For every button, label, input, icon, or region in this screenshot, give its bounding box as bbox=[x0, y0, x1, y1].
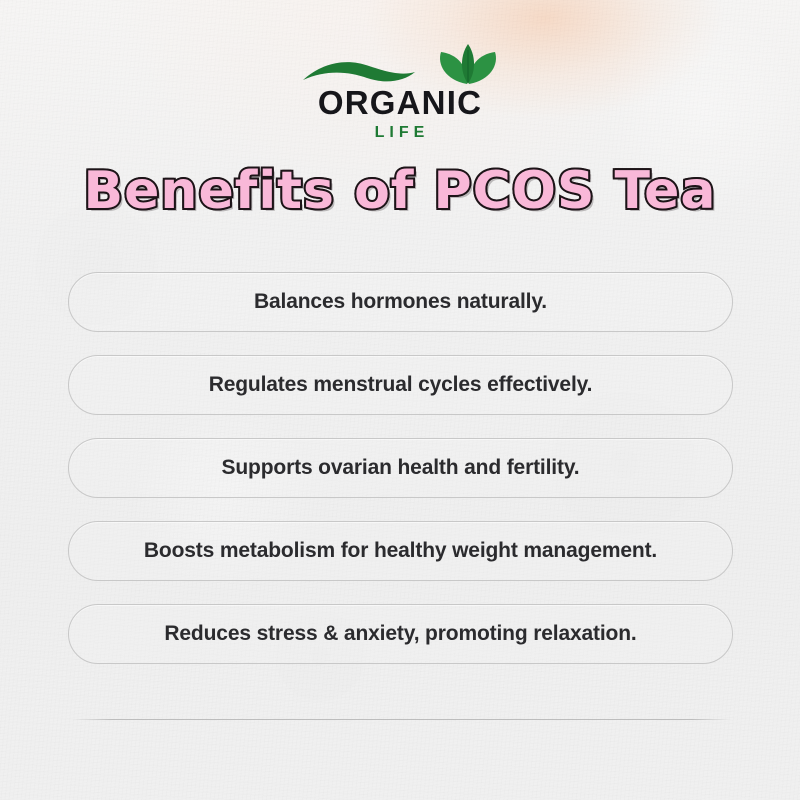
benefit-label: Boosts metabolism for healthy weight man… bbox=[144, 539, 657, 563]
logo-mark bbox=[285, 44, 515, 92]
benefit-item-1: Balances hormones naturally. bbox=[68, 272, 733, 332]
footer-divider bbox=[72, 719, 732, 720]
benefit-label: Reduces stress & anxiety, promoting rela… bbox=[164, 622, 636, 646]
benefit-item-5: Reduces stress & anxiety, promoting rela… bbox=[68, 604, 733, 664]
benefit-item-2: Regulates menstrual cycles effectively. bbox=[68, 355, 733, 415]
page-title: Benefits of PCOS Tea bbox=[84, 165, 717, 217]
page-title-container: Benefits of PCOS Tea bbox=[0, 156, 800, 226]
benefit-label: Regulates menstrual cycles effectively. bbox=[209, 373, 593, 397]
benefit-label: Supports ovarian health and fertility. bbox=[222, 456, 580, 480]
logo-subtitle: LIFE bbox=[375, 125, 430, 141]
swoosh-icon bbox=[303, 62, 415, 81]
brand-logo: ORGANIC LIFE bbox=[0, 44, 800, 136]
benefit-item-3: Supports ovarian health and fertility. bbox=[68, 438, 733, 498]
poster-canvas: ORGANIC LIFE Benefits of PCOS Tea Balanc… bbox=[0, 0, 800, 800]
leaf-cluster-icon bbox=[440, 44, 496, 84]
benefits-list: Balances hormones naturally. Regulates m… bbox=[68, 272, 733, 664]
benefit-label: Balances hormones naturally. bbox=[254, 290, 547, 314]
benefit-item-4: Boosts metabolism for healthy weight man… bbox=[68, 521, 733, 581]
